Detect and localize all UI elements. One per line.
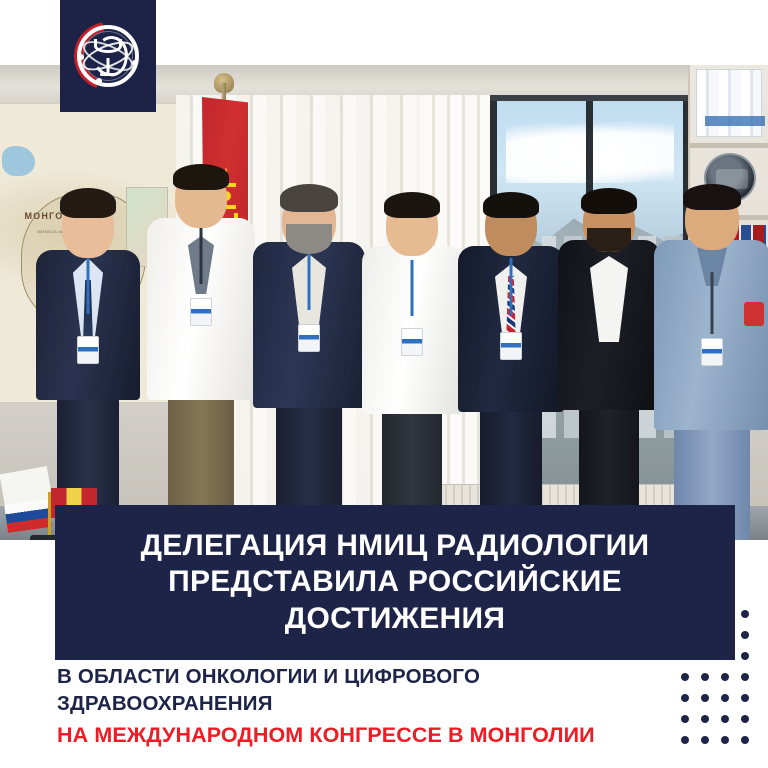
poster-root: МОНГОЛ УЛС MONGOLIA: [0, 0, 768, 768]
dot: [681, 673, 689, 681]
shelf-binders: [696, 69, 762, 137]
emblem-bowl-foot: [100, 73, 116, 76]
dot: [701, 610, 709, 618]
headline-text: ДЕЛЕГАЦИЯ НМИЦ РАДИОЛОГИИ ПРЕДСТАВИЛА РО…: [117, 528, 674, 637]
window-frame-top: [490, 95, 690, 101]
person-6: [552, 142, 666, 540]
dot: [741, 631, 749, 639]
dot: [721, 673, 729, 681]
dot: [721, 610, 729, 618]
logo-badge: [60, 0, 156, 112]
russian-desk-flag: [4, 499, 51, 533]
emblem-bowl: [94, 39, 122, 53]
subtitle-block: В ОБЛАСТИ ОНКОЛОГИИ И ЦИФРОВОГО ЗДРАВООХ…: [57, 663, 677, 749]
dot: [721, 694, 729, 702]
dot: [741, 736, 749, 744]
dot: [741, 715, 749, 723]
dot: [741, 673, 749, 681]
sleeve-patch: [744, 302, 764, 326]
dot: [721, 652, 729, 660]
title-banner: ДЕЛЕГАЦИЯ НМИЦ РАДИОЛОГИИ ПРЕДСТАВИЛА РО…: [55, 505, 735, 660]
dot: [681, 715, 689, 723]
dot: [741, 610, 749, 618]
dot: [681, 610, 689, 618]
dot: [701, 715, 709, 723]
person-3: [246, 140, 372, 540]
dot: [701, 631, 709, 639]
emblem-node-left: [78, 54, 84, 60]
binder-label: [705, 116, 765, 126]
dot: [681, 694, 689, 702]
dot: [701, 673, 709, 681]
person-2: [140, 125, 262, 540]
emblem-node-bottom: [96, 78, 102, 84]
person-7: [650, 140, 768, 540]
dot: [681, 736, 689, 744]
dot: [721, 715, 729, 723]
subtitle-red-line: НА МЕЖДУНАРОДНОМ КОНГРЕССЕ В МОНГОЛИИ: [57, 722, 677, 750]
dot: [721, 736, 729, 744]
dot: [741, 652, 749, 660]
emblem-node-right: [132, 60, 138, 66]
dot: [701, 652, 709, 660]
dot: [741, 694, 749, 702]
subtitle-dark-line: В ОБЛАСТИ ОНКОЛОГИИ И ЦИФРОВОГО ЗДРАВООХ…: [57, 663, 677, 718]
dot: [701, 694, 709, 702]
desk-flag-pole: [48, 492, 51, 538]
bowl-of-hygieia-icon: [72, 20, 144, 92]
emblem-bowl-stem: [107, 58, 110, 74]
dot: [681, 631, 689, 639]
dot: [701, 736, 709, 744]
decorative-dot-grid: [681, 610, 761, 760]
hero-photo: МОНГОЛ УЛС MONGOLIA: [0, 65, 768, 540]
dot: [721, 631, 729, 639]
dot: [681, 652, 689, 660]
